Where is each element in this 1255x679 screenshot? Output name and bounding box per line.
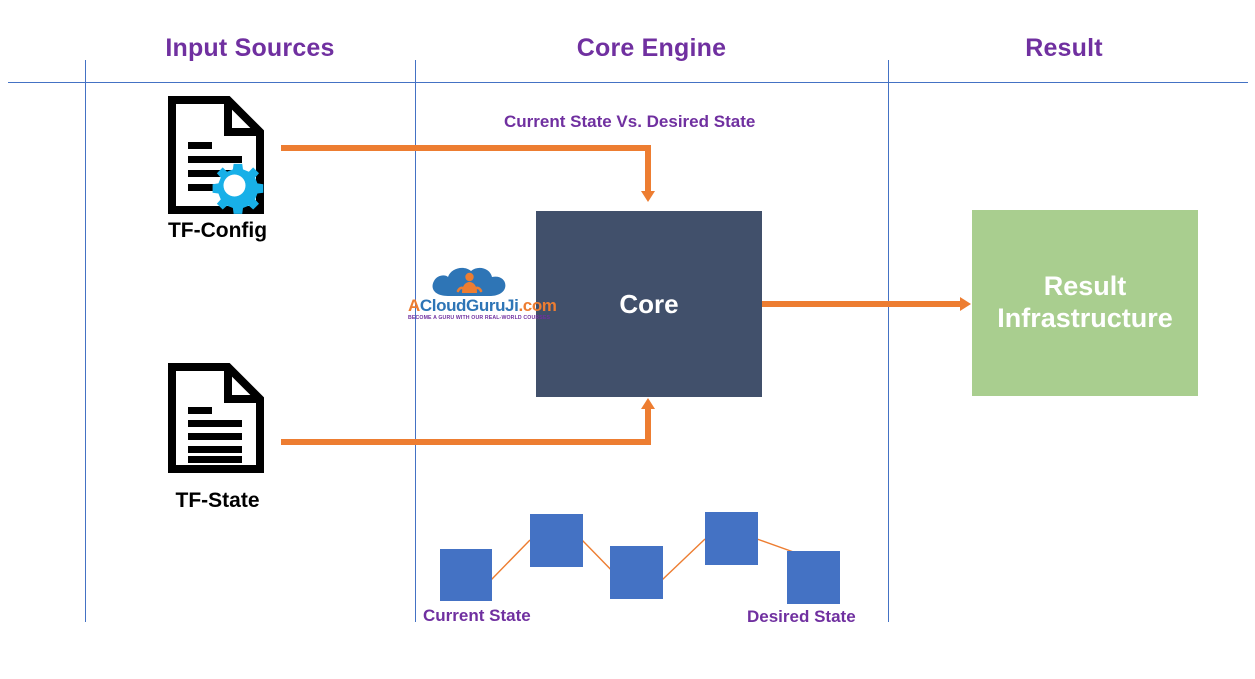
column-header-core-engine-label: Core Engine (577, 34, 726, 62)
column-header-input-sources: Input Sources (85, 34, 415, 63)
column-header-input-sources-label: Input Sources (165, 34, 334, 62)
divider-vertical-left (85, 60, 86, 622)
watermark-brand: ACloudGuruJi.com (408, 297, 540, 314)
column-header-result-label: Result (1025, 34, 1103, 62)
connector-state-arrowhead (641, 398, 655, 409)
connector-config-horizontal (281, 145, 651, 151)
desired-state-caption: Desired State (747, 607, 856, 627)
state-square-2 (530, 514, 583, 567)
tf-config-icon-wrap (168, 96, 264, 219)
current-state-caption-text: Current State (423, 606, 531, 625)
tf-state-icon-wrap (168, 363, 264, 478)
desired-state-caption-text: Desired State (747, 607, 856, 626)
state-square-5 (787, 551, 840, 604)
core-box-label: Core (619, 289, 678, 320)
watermark-brand-a: A (408, 296, 420, 315)
document-gear-icon (168, 96, 264, 214)
core-box[interactable]: Core (536, 211, 762, 397)
watermark-brand-mid: CloudGuruJi (420, 296, 519, 315)
state-square-4 (705, 512, 758, 565)
gear-icon (213, 164, 264, 214)
comparison-caption: Current State Vs. Desired State (504, 112, 755, 132)
watermark-tagline: BECOME A GURU WITH OUR REAL-WORLD COURSE… (408, 315, 540, 321)
connector-result-arrowhead (960, 297, 971, 311)
tf-state-label-text: TF-State (176, 489, 260, 512)
diagram-canvas: Input Sources Core Engine Result TF-Conf… (0, 0, 1255, 679)
watermark-brand-com: .com (518, 296, 556, 315)
tf-config-label: TF-Config (130, 219, 305, 243)
state-square-1 (440, 549, 492, 601)
result-box-label-line2: Infrastructure (997, 303, 1173, 335)
connector-state-vertical (645, 408, 651, 442)
tf-config-label-text: TF-Config (168, 219, 267, 242)
tf-state-label: TF-State (130, 489, 305, 513)
column-header-result: Result (888, 34, 1240, 63)
column-header-core-engine: Core Engine (415, 34, 888, 63)
current-state-caption: Current State (423, 606, 531, 626)
connector-config-vertical (645, 145, 651, 192)
comparison-caption-text: Current State Vs. Desired State (504, 112, 755, 131)
connector-config-arrowhead (641, 191, 655, 202)
document-lines-icon (168, 363, 264, 473)
result-box[interactable]: Result Infrastructure (972, 210, 1198, 396)
state-square-3 (610, 546, 663, 599)
watermark-logo: ACloudGuruJi.com BECOME A GURU WITH OUR … (408, 266, 540, 321)
cloud-guru-icon (408, 266, 540, 298)
connector-state-horizontal (281, 439, 651, 445)
result-box-label-line1: Result (997, 271, 1173, 303)
divider-horizontal-top (8, 82, 1248, 83)
result-box-label: Result Infrastructure (997, 271, 1173, 335)
connector-result-horizontal (762, 301, 961, 307)
